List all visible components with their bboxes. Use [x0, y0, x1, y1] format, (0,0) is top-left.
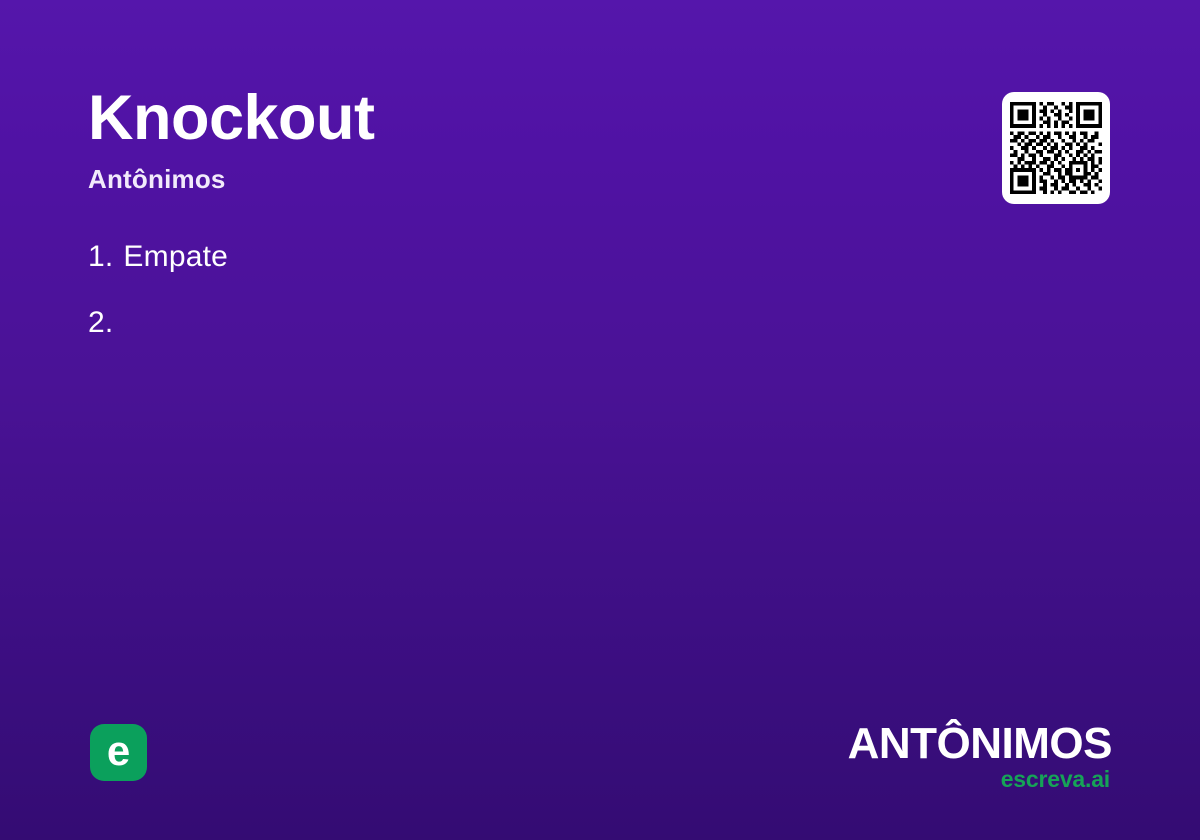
wordmark-main-label: ANTÔNIMOS [692, 722, 1112, 766]
page-title: Knockout [88, 86, 908, 150]
wordmark-sub-label: escreva.ai [692, 768, 1112, 791]
qr-code-icon[interactable] [1002, 92, 1110, 204]
list-item-index: 2. [88, 304, 113, 342]
header: Knockout Antônimos [88, 86, 908, 195]
list-item: 1. Empate [88, 238, 908, 276]
answer-list: 1. Empate 2. [88, 238, 908, 369]
page-subtitle: Antônimos [88, 164, 908, 195]
brand-mark-letter: e [107, 730, 130, 772]
escreva-logo-icon[interactable]: e [90, 724, 147, 781]
list-item-index: 1. [88, 238, 113, 276]
antonimos-wordmark: ANTÔNIMOS escreva.ai [692, 722, 1112, 791]
list-item: 2. [88, 304, 908, 342]
list-item-label: Empate [123, 238, 228, 276]
flashcard-slide: Knockout Antônimos 1. Empate 2. [0, 0, 1200, 840]
